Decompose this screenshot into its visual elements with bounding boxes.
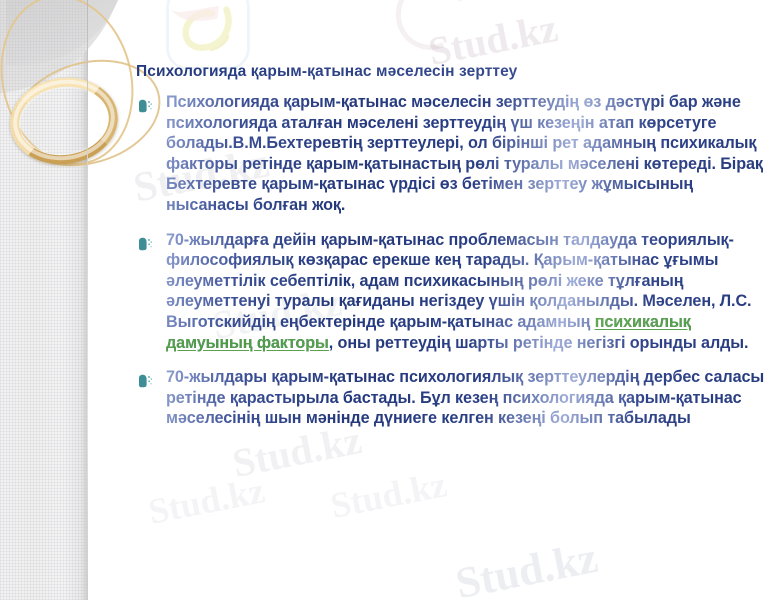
speaking-head-bullet-icon (137, 99, 153, 113)
speaking-head-bullet-icon (137, 374, 153, 388)
bullet-text-after-link: , оны реттеудің шарты ретінде негізгі ор… (329, 334, 749, 352)
list-item: Психологияда қарым-қатынас мәселесін зер… (134, 92, 771, 216)
band-edge-line (87, 0, 88, 600)
list-item: 70-жылдарға дейін қарым-қатынас проблема… (134, 230, 771, 354)
left-decorative-band (0, 0, 88, 600)
slide-content: Психологияда қарым-қатынас мәселесін зер… (134, 0, 771, 600)
page-title: Психологияда қарым-қатынас мәселесін зер… (136, 63, 736, 81)
bullet-list: Психологияда қарым-қатынас мәселесін зер… (134, 92, 771, 443)
bullet-text: 70-жылдары қарым-қатынас психологиялық з… (166, 367, 771, 429)
slide-canvas: Stud.kz Stud.kz Stud.kz Stud.kz Stud.kz … (0, 0, 771, 600)
speaking-head-bullet-icon (137, 237, 153, 251)
bullet-text: Психологияда қарым-қатынас мәселесін зер… (166, 92, 771, 216)
list-item: 70-жылдары қарым-қатынас психологиялық з… (134, 367, 771, 429)
bullet-text: 70-жылдарға дейін қарым-қатынас проблема… (166, 230, 771, 354)
